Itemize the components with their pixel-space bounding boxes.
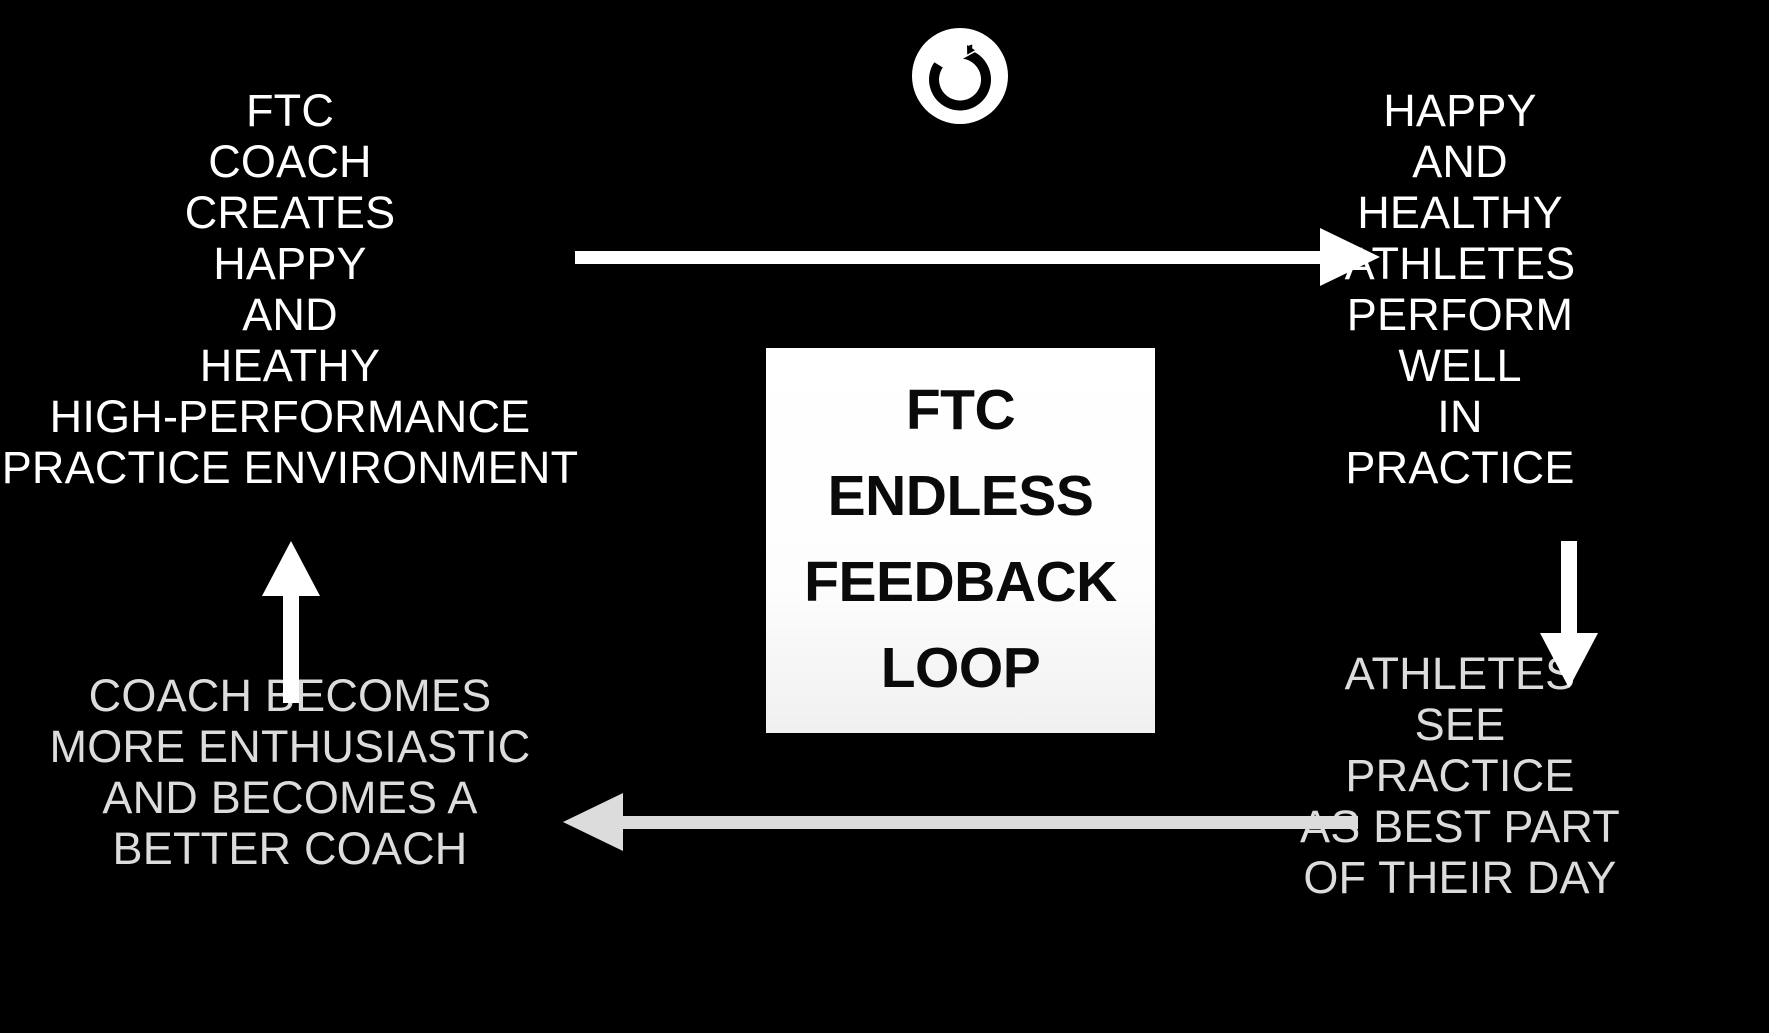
stage-line: FTC [0,85,580,136]
stage-line: MORE ENTHUSIASTIC [30,721,550,772]
center-card: FTC ENDLESS FEEDBACK LOOP [766,348,1155,733]
center-card-line: FEEDBACK [804,539,1117,625]
center-card-line: ENDLESS [828,453,1094,539]
center-card-line: LOOP [881,625,1041,711]
stage-line: AND BECOMES A [30,772,550,823]
stage-line: IN [1280,391,1640,442]
arrow-up-left [262,541,320,703]
stage-line: HIGH-PERFORMANCE [0,391,580,442]
arrow-right-top [575,228,1380,286]
arrow-head [262,541,320,596]
stage-line: AND [0,289,580,340]
stage-line: HAPPY [0,238,580,289]
arrow-down-right [1540,541,1598,688]
arrow-shaft [623,816,1358,829]
stage-line: CREATES [0,187,580,238]
stage-line: PRACTICE ENVIRONMENT [0,442,580,493]
arrow-left-bottom [563,793,1358,851]
stage-line: COACH [0,136,580,187]
stage-line: SEE [1280,699,1640,750]
stage-line: AND [1280,136,1640,187]
stage-line: WELL [1280,340,1640,391]
stage-line: PRACTICE [1280,442,1640,493]
center-card-line: FTC [906,367,1015,453]
arrow-head [1320,228,1380,286]
stage-line: PERFORM [1280,289,1640,340]
arrow-shaft [283,591,299,703]
refresh-loop-icon [912,28,1008,124]
arrow-shaft [575,251,1325,264]
stage-text-top-left: FTC COACH CREATES HAPPY AND HEATHY HIGH-… [0,85,580,493]
stage-line: HEATHY [0,340,580,391]
stage-line: OF THEIR DAY [1280,852,1640,903]
arrow-shaft [1561,541,1577,636]
arrow-head [1540,633,1598,688]
arrow-head [563,793,623,851]
stage-text-top-right: HAPPY AND HEALTHY ATHLETES PERFORM WELL … [1280,85,1640,493]
stage-line: BETTER COACH [30,823,550,874]
stage-line: HAPPY [1280,85,1640,136]
feedback-loop-diagram: FTC COACH CREATES HAPPY AND HEATHY HIGH-… [0,0,1769,1033]
